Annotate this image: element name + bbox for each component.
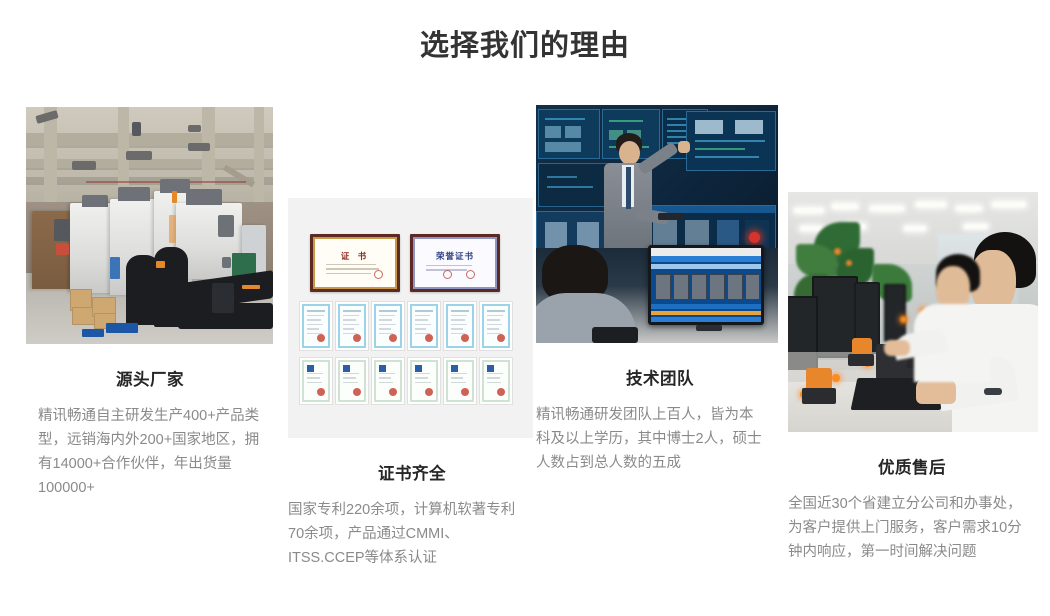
certificate-small-patent bbox=[408, 302, 440, 350]
desktop-monitor bbox=[648, 245, 764, 325]
card-source-factory: 源头厂家 精讯畅通自主研发生产400+产品类型，远销海内外200+国家地区，拥有… bbox=[0, 107, 300, 500]
certificate-small-patent bbox=[480, 302, 512, 350]
certificate-small-software bbox=[444, 358, 476, 404]
engineer-standing bbox=[598, 133, 688, 253]
certificates-wall-photo: 证 书 荣誉证书 bbox=[288, 198, 533, 438]
certificate-small-patent bbox=[300, 302, 332, 350]
control-room-engineers-photo bbox=[536, 105, 778, 343]
card-title-after-sales: 优质售后 bbox=[762, 454, 1050, 478]
certificate-small-software bbox=[336, 358, 368, 404]
certificate-framed-rongyu: 荣誉证书 bbox=[410, 234, 500, 292]
card-body-after-sales: 全国近30个省建立分公司和办事处，为客户提供上门服务，客户需求10分钟内响应，第… bbox=[788, 492, 1024, 564]
certificate-small-patent bbox=[444, 302, 476, 350]
office-workers-computers-photo bbox=[788, 192, 1038, 432]
card-body-tech-team: 精讯畅通研发团队上百人，皆为本科及以上学历，其中博士2人，硕士人数占到总人数的五… bbox=[536, 403, 764, 475]
certificate-small-patent bbox=[372, 302, 404, 350]
card-title-source-factory: 源头厂家 bbox=[0, 366, 300, 390]
certificate-small-software bbox=[300, 358, 332, 404]
card-body-certificates: 国家专利220余项，计算机软著专利70余项，产品通过CMMI、ITSS.CCEP… bbox=[288, 498, 518, 570]
promo-page: 选择我们的理由 bbox=[0, 0, 1050, 616]
certificate-small-software bbox=[372, 358, 404, 404]
certificate-small-software bbox=[408, 358, 440, 404]
page-title: 选择我们的理由 bbox=[0, 22, 1050, 64]
factory-floor-cnc-machines-photo bbox=[26, 107, 273, 344]
certificate-small-software bbox=[480, 358, 512, 404]
card-after-sales: 优质售后 全国近30个省建立分公司和办事处，为客户提供上门服务，客户需求10分钟… bbox=[762, 192, 1050, 564]
certificate-small-patent bbox=[336, 302, 368, 350]
card-body-source-factory: 精讯畅通自主研发生产400+产品类型，远销海内外200+国家地区，拥有14000… bbox=[38, 404, 266, 500]
certificate-framed-zhengshu: 证 书 bbox=[310, 234, 400, 292]
